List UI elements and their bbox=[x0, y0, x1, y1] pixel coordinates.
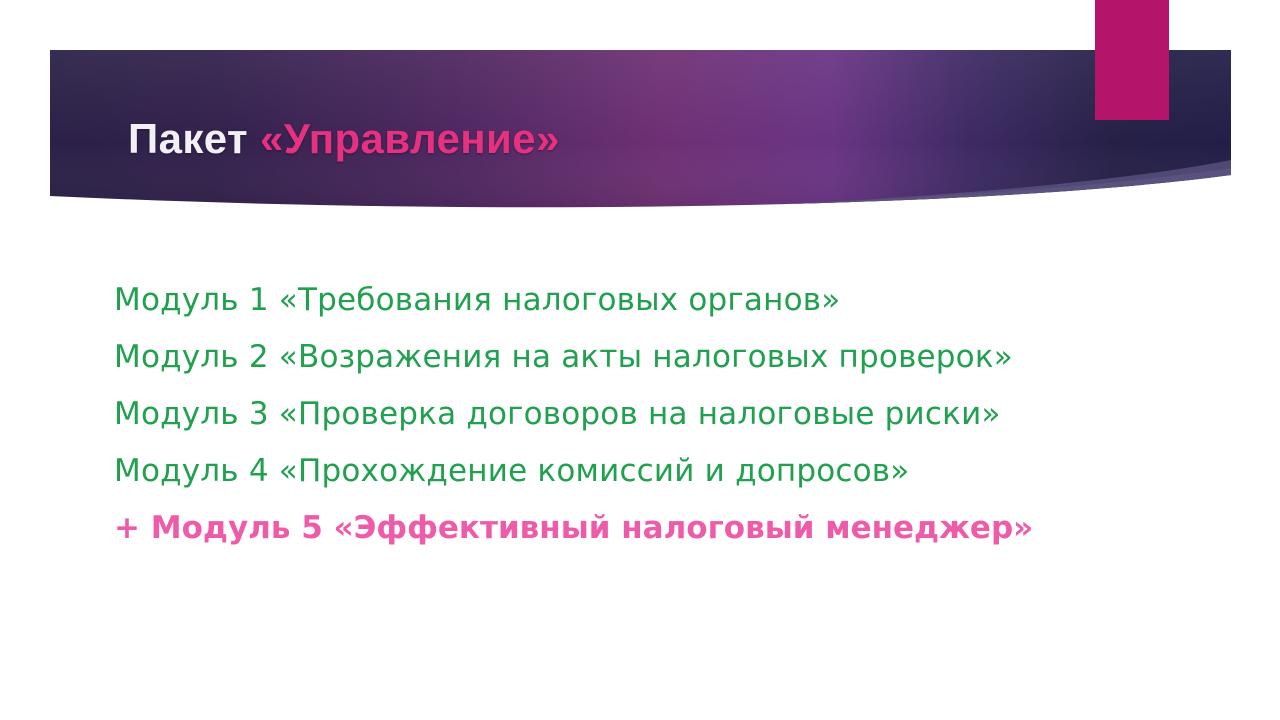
banner-accent-band bbox=[640, 168, 1231, 211]
page-title-accent: «Управление» bbox=[260, 115, 560, 162]
page-title-plain: Пакет bbox=[128, 115, 260, 162]
accent-rectangle bbox=[1095, 0, 1169, 120]
module-list: Модуль 1 «Требования налоговых органов» … bbox=[114, 272, 1194, 557]
banner-accent-band-2 bbox=[700, 160, 1231, 208]
list-item: Модуль 4 «Прохождение комиссий и допросо… bbox=[114, 443, 1194, 500]
list-item: Модуль 3 «Проверка договоров на налоговы… bbox=[114, 386, 1194, 443]
list-item-highlight: + Модуль 5 «Эффективный налоговый менедж… bbox=[114, 500, 1194, 557]
slide-canvas: Пакет «Управление» Модуль 1 «Требования … bbox=[0, 0, 1280, 720]
page-title: Пакет «Управление» bbox=[128, 117, 560, 161]
list-item: Модуль 1 «Требования налоговых органов» bbox=[114, 272, 1194, 329]
list-item: Модуль 2 «Возражения на акты налоговых п… bbox=[114, 329, 1194, 386]
